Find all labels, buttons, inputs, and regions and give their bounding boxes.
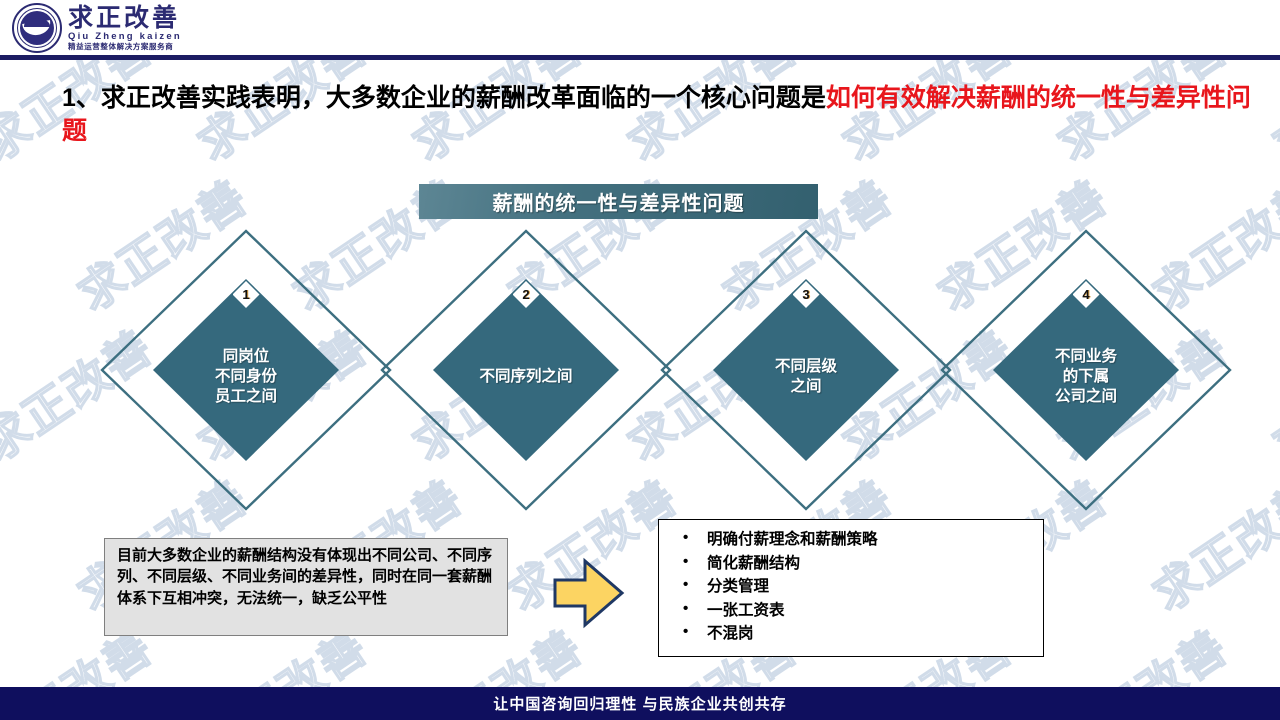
company-logo: 求正改善 Qiu Zheng kaizen 精益运营整体解决方案服务商 bbox=[12, 3, 182, 53]
logo-pinyin: Qiu Zheng kaizen bbox=[68, 32, 182, 42]
diamond-diagram: 同岗位 不同身份 员工之间 1 不同序列之间 2 不同层级 之间 bbox=[0, 225, 1280, 525]
diamond-label-1: 同岗位 不同身份 员工之间 bbox=[215, 347, 277, 406]
diamond-label-3: 不同层级 之间 bbox=[775, 357, 837, 397]
diamond-node-2[interactable]: 不同序列之间 2 bbox=[376, 225, 676, 515]
slide-canvas: 求正改善求正改善求正改善求正改善求正改善求正改善求正改善求正改善求正改善求正改善… bbox=[0, 0, 1280, 720]
diamond-node-3[interactable]: 不同层级 之间 3 bbox=[656, 225, 956, 515]
list-item: 一张工资表 bbox=[673, 599, 1033, 623]
list-item: 不混岗 bbox=[673, 622, 1033, 646]
slide-footer: 让中国咨询回归理性 与民族企业共创共存 bbox=[0, 687, 1280, 720]
problem-statement-box: 目前大多数企业的薪酬结构没有体现出不同公司、不同序列、不同层级、不同业务间的差异… bbox=[104, 538, 508, 636]
slide-header: 求正改善 Qiu Zheng kaizen 精益运营整体解决方案服务商 bbox=[0, 0, 1280, 58]
list-item: 明确付薪理念和薪酬策略 bbox=[673, 528, 1033, 552]
logo-tagline: 精益运营整体解决方案服务商 bbox=[68, 43, 182, 51]
list-item: 分类管理 bbox=[673, 575, 1033, 599]
problem-statement-text: 目前大多数企业的薪酬结构没有体现出不同公司、不同序列、不同层级、不同业务间的差异… bbox=[117, 545, 497, 609]
diamond-number-1: 1 bbox=[242, 288, 249, 301]
diamond-label-2: 不同序列之间 bbox=[479, 367, 572, 387]
solution-list: 明确付薪理念和薪酬策略 简化薪酬结构 分类管理 一张工资表 不混岗 bbox=[673, 528, 1033, 646]
title-black-text: 1、求正改善实践表明，大多数企业的薪酬改革面临的一个核心问题是 bbox=[62, 84, 826, 112]
diamond-label-4: 不同业务 的下属 公司之间 bbox=[1055, 347, 1117, 406]
diamond-number-4: 4 bbox=[1082, 288, 1089, 301]
diamond-number-3: 3 bbox=[802, 288, 809, 301]
list-item: 简化薪酬结构 bbox=[673, 552, 1033, 576]
footer-slogan: 让中国咨询回归理性 与民族企业共创共存 bbox=[493, 693, 786, 714]
logo-emblem-icon bbox=[12, 3, 62, 53]
diamond-node-4[interactable]: 不同业务 的下属 公司之间 4 bbox=[936, 225, 1236, 515]
section-banner-label: 薪酬的统一性与差异性问题 bbox=[493, 187, 745, 216]
logo-chinese-name: 求正改善 bbox=[68, 6, 182, 31]
diamond-node-1[interactable]: 同岗位 不同身份 员工之间 1 bbox=[96, 225, 396, 515]
page-title: 1、求正改善实践表明，大多数企业的薪酬改革面临的一个核心问题是如何有效解决薪酬的… bbox=[62, 82, 1252, 148]
diamond-number-2: 2 bbox=[522, 288, 529, 301]
solution-box: 明确付薪理念和薪酬策略 简化薪酬结构 分类管理 一张工资表 不混岗 bbox=[658, 519, 1044, 657]
section-banner: 薪酬的统一性与差异性问题 bbox=[419, 184, 818, 219]
header-divider bbox=[0, 55, 1280, 60]
right-arrow-icon bbox=[551, 556, 626, 630]
